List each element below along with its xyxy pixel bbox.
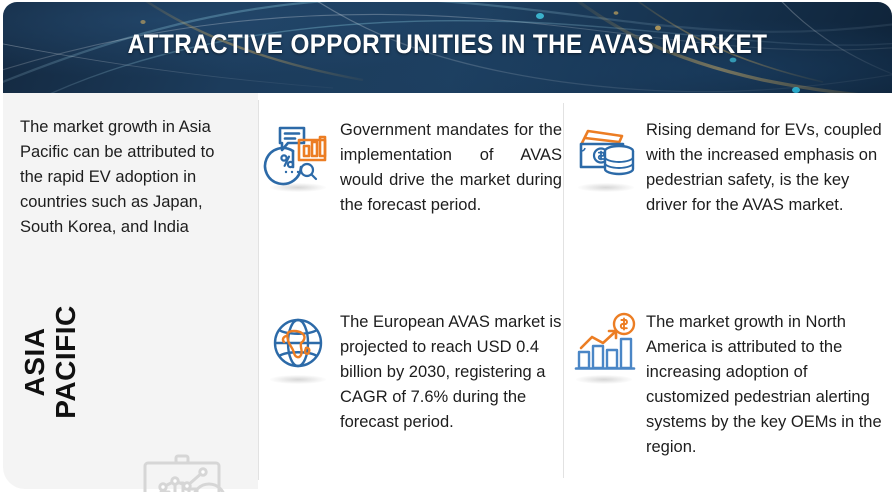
icon-shadow: [578, 183, 634, 192]
insight-card-top-right: Rising demand for EVs, coupled with the …: [570, 118, 892, 218]
divider-vertical-left: [258, 100, 259, 480]
insight-card-text: Government mandates for the implementati…: [340, 118, 562, 218]
header-banner: ATTRACTIVE OPPORTUNITIES IN THE AVAS MAR…: [3, 2, 892, 93]
globe-europe-africa-icon: [262, 310, 334, 386]
page-title: ATTRACTIVE OPPORTUNITIES IN THE AVAS MAR…: [47, 29, 847, 60]
insight-card-bottom-right: The market growth in North America is at…: [568, 310, 892, 460]
left-region-panel: The market growth in Asia Pacific can be…: [3, 93, 258, 489]
region-label-line1: ASIA: [19, 328, 50, 397]
insight-card-bottom-left: The European AVAS market is projected to…: [262, 310, 562, 435]
region-label: ASIA PACIFIC: [19, 292, 81, 432]
icon-shadow: [576, 375, 632, 384]
insight-card-text: Rising demand for EVs, coupled with the …: [646, 118, 886, 218]
region-description: The market growth in Asia Pacific can be…: [20, 115, 236, 240]
survey-analytics-icon: [262, 118, 334, 194]
insight-card-text: The market growth in North America is at…: [646, 310, 888, 460]
infographic-page: ATTRACTIVE OPPORTUNITIES IN THE AVAS MAR…: [0, 0, 895, 492]
growth-bar-chart-dollar-icon: [568, 310, 640, 386]
region-label-line2: PACIFIC: [50, 305, 81, 418]
money-cash-coins-icon: [570, 118, 642, 194]
divider-vertical-middle: [563, 103, 564, 478]
insight-card-top-left: Government mandates for the implementati…: [262, 118, 562, 218]
icon-shadow: [270, 375, 326, 384]
insight-card-text: The European AVAS market is projected to…: [340, 310, 562, 435]
presentation-chart-magnifier-icon: [131, 445, 241, 492]
icon-shadow: [270, 183, 326, 192]
